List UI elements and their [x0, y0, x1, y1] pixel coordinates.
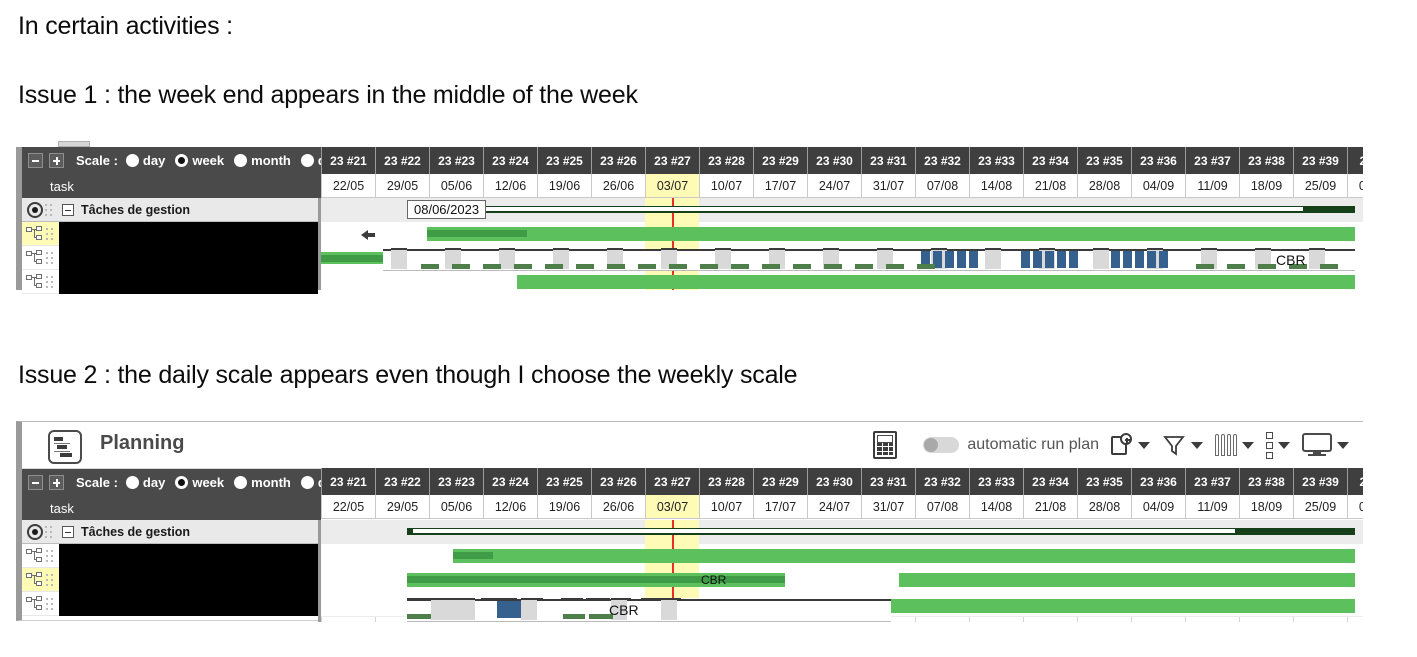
mini-progress-block: [855, 264, 873, 269]
date-header-cell[interactable]: 11/09: [1185, 495, 1239, 519]
date-header-cell[interactable]: 07/08: [915, 174, 969, 198]
expand-all-icon[interactable]: [49, 475, 64, 490]
date-header-cell[interactable]: 26/06: [591, 495, 645, 519]
scale-label: Scale :: [76, 153, 118, 168]
weekend-block: [985, 250, 1001, 269]
columns-button[interactable]: [1209, 422, 1260, 468]
mini-progress-block: [886, 264, 904, 269]
monitor-icon: [1302, 433, 1332, 457]
add-page-button[interactable]: [1105, 422, 1156, 468]
weekend-block-top: [985, 248, 1001, 250]
target-icon: [27, 202, 43, 218]
calculator-icon: [873, 431, 897, 459]
radio-dot-month: [234, 476, 247, 489]
display-button[interactable]: [1296, 422, 1355, 468]
week-header-cell[interactable]: 23 #30: [807, 147, 861, 174]
day-cell-top: [521, 598, 543, 600]
scale-option-month[interactable]: month: [234, 475, 291, 490]
scale-option-week[interactable]: week: [175, 475, 224, 490]
date-header-cell[interactable]: 24/07: [807, 174, 861, 198]
chevron-down-icon[interactable]: [1278, 442, 1290, 449]
radio-dot-quarter: [301, 154, 314, 167]
date-header-cell[interactable]: 29/05: [375, 495, 429, 519]
subtask-tree-icon: [26, 250, 44, 266]
mini-progress-block: [669, 264, 687, 269]
task-bar-progress-2-2: [407, 576, 785, 583]
task-block[interactable]: [945, 251, 954, 268]
task-block[interactable]: [1123, 251, 1132, 268]
automatic-run-plan-label: automatic run plan: [967, 436, 1099, 454]
more-options-button[interactable]: [1260, 422, 1296, 468]
week-header-cell[interactable]: 23 #4: [1347, 468, 1363, 495]
subtask-tree-icon: [26, 596, 44, 612]
timeline-week-header-1: 23 #2123 #2223 #2323 #2423 #2523 #2623 #…: [321, 147, 1363, 174]
week-header-cell[interactable]: 23 #25: [537, 468, 591, 495]
week-header-cell[interactable]: 23 #25: [537, 147, 591, 174]
task-block[interactable]: [1111, 251, 1120, 268]
scale-radio-group-2: day week month qu: [126, 475, 344, 490]
weekend-block-top: [553, 248, 569, 250]
weekend-block-top: [931, 248, 947, 250]
bar-label-cbr-1: CBR: [1276, 252, 1306, 268]
date-header-cell[interactable]: 03/07: [645, 174, 699, 198]
mini-progress-block: [452, 264, 470, 269]
collapse-all-icon[interactable]: [28, 153, 43, 168]
week-header-cell[interactable]: 23 #29: [753, 147, 807, 174]
bar-label-cbr-2b: CBR: [609, 602, 639, 618]
columns-icon: [1215, 434, 1237, 456]
date-header-cell[interactable]: 07/08: [915, 495, 969, 519]
chevron-down-icon[interactable]: [1337, 442, 1349, 449]
week-header-cell[interactable]: 23 #35: [1077, 147, 1131, 174]
week-header-cell[interactable]: 23 #26: [591, 468, 645, 495]
mini-progress-block: [607, 264, 625, 269]
drag-dots-icon: [44, 202, 53, 218]
mini-progress-block: [793, 264, 811, 269]
date-header-cell[interactable]: 22/05: [321, 495, 375, 519]
week-header-cell[interactable]: 23 #34: [1023, 147, 1077, 174]
subtask-tree-icon: [26, 274, 44, 290]
task-list-pane-2: Tâches de gestion: [22, 520, 318, 616]
mini-progress-block: [576, 264, 594, 269]
gantt-body-2: CBR CBR Tâches de gestion: [22, 520, 1363, 622]
radio-dot-quarter: [301, 476, 314, 489]
task-block[interactable]: [1033, 251, 1042, 268]
week-header-cell[interactable]: 23 #32: [915, 147, 969, 174]
week-header-cell[interactable]: 23 #27: [645, 147, 699, 174]
scale-radio-group-1: day week month qu: [126, 153, 344, 168]
week-header-cell[interactable]: 23 #28: [699, 468, 753, 495]
task-block[interactable]: [1021, 251, 1030, 268]
weekend-block-top: [715, 248, 731, 250]
mini-progress-block: [638, 264, 656, 269]
task-block[interactable]: [1135, 251, 1144, 268]
drag-dots-icon: [45, 226, 54, 242]
redacted-task-name: [59, 592, 318, 616]
date-header-cell[interactable]: 29/05: [375, 174, 429, 198]
date-header-cell[interactable]: 28/08: [1077, 174, 1131, 198]
task-row-2-1[interactable]: [22, 544, 318, 568]
drag-dots-icon: [44, 524, 53, 540]
gantt-body-1: 08/06/2023 CBR Tâches de ge: [22, 198, 1363, 290]
mini-progress-block: [1227, 264, 1245, 269]
redacted-task-name: [59, 270, 318, 294]
week-header-cell[interactable]: 23 #37: [1185, 468, 1239, 495]
radio-dot-day: [126, 476, 139, 489]
week-header-cell[interactable]: 23 #37: [1185, 147, 1239, 174]
filter-button[interactable]: [1156, 422, 1209, 468]
task-bar-1-1[interactable]: [427, 227, 1355, 241]
date-header-cell[interactable]: 19/06: [537, 174, 591, 198]
task-bar-progress-2-1: [453, 552, 493, 559]
intro-paragraph: In certain activities :: [18, 12, 233, 41]
week-header-cell[interactable]: 23 #32: [915, 468, 969, 495]
day-cell-top: [586, 598, 610, 600]
week-header-cell[interactable]: 23 #31: [861, 468, 915, 495]
date-header-cell[interactable]: 26/06: [591, 174, 645, 198]
collapse-all-icon[interactable]: [28, 475, 43, 490]
date-header-cell[interactable]: 04/09: [1131, 174, 1185, 198]
weekend-block-top: [1039, 248, 1055, 250]
mini-progress-block: [824, 264, 842, 269]
week-header-cell[interactable]: 23 #28: [699, 147, 753, 174]
gantt-screenshot-2: Planning automatic run plan: [16, 421, 1363, 621]
task-row-2-3[interactable]: [22, 592, 318, 616]
task-bar-1-3[interactable]: [517, 275, 1355, 289]
mini-progress-block: [545, 264, 563, 269]
gantt-screenshot-1: Scale : day week month qu 23 #2123 #2223…: [16, 147, 1363, 290]
chevron-down-icon[interactable]: [1138, 442, 1150, 449]
radio-dot-week: [175, 476, 188, 489]
timeline-date-header-2: 22/0529/0505/0612/0619/0626/0603/0710/07…: [321, 495, 1363, 519]
date-header-cell[interactable]: 03/07: [645, 495, 699, 519]
left-arrow-icon: [361, 229, 375, 241]
redacted-task-name: [59, 544, 318, 568]
date-header-cell[interactable]: 14/08: [969, 495, 1023, 519]
day-cell-top: [561, 598, 583, 600]
mini-progress-block: [514, 264, 532, 269]
task-group-row-2[interactable]: Tâches de gestion: [22, 520, 318, 544]
week-header-cell[interactable]: 23 #22: [375, 147, 429, 174]
task-bar-2-2[interactable]: [407, 573, 785, 587]
date-header-cell[interactable]: 02/10: [1347, 174, 1363, 198]
planning-titlebar: Planning automatic run plan: [22, 422, 1363, 469]
weekend-block-top: [823, 248, 839, 250]
subtask-tree-icon: [26, 548, 44, 564]
subtask-tree-icon: [26, 226, 44, 242]
radio-dot-week: [175, 154, 188, 167]
date-header-cell[interactable]: 24/07: [807, 495, 861, 519]
expand-all-icon[interactable]: [49, 153, 64, 168]
task-bar-2-2b[interactable]: [899, 573, 1355, 587]
mini-progress-block: [1196, 264, 1214, 269]
week-header-cell[interactable]: 23 #22: [375, 468, 429, 495]
week-header-cell[interactable]: 23 #23: [429, 468, 483, 495]
drag-dots-icon: [45, 596, 54, 612]
mini-progress-block: [731, 264, 749, 269]
date-tooltip: 08/06/2023: [407, 200, 486, 219]
timeline-date-header-1: 22/0529/0505/0612/0619/0626/0603/0710/07…: [321, 174, 1363, 198]
week-header-cell[interactable]: 23 #33: [969, 147, 1023, 174]
task-block[interactable]: [497, 601, 521, 618]
redacted-task-name: [59, 246, 318, 270]
week-header-cell[interactable]: 23 #30: [807, 468, 861, 495]
task-group-row-1[interactable]: Tâches de gestion: [22, 198, 318, 222]
summary-bar-inner-1: [415, 207, 1303, 211]
mini-progress-block: [1320, 264, 1338, 269]
target-icon: [27, 524, 43, 540]
week-header-cell[interactable]: 23 #36: [1131, 147, 1185, 174]
date-header-cell[interactable]: 12/06: [483, 174, 537, 198]
mini-progress-block: [1258, 264, 1276, 269]
task-column-title: task: [50, 179, 74, 194]
redacted-task-name: [59, 568, 318, 592]
task-row-2-2[interactable]: [22, 568, 318, 592]
mini-progress-block: [917, 264, 935, 269]
mini-progress-block: [483, 264, 501, 269]
date-header-cell[interactable]: 02/10: [1347, 495, 1363, 519]
task-block[interactable]: [969, 251, 978, 268]
scale-option-week[interactable]: week: [175, 153, 224, 168]
weekend-block: [391, 250, 407, 269]
scale-option-day[interactable]: day: [126, 153, 165, 168]
weekend-block-top: [1093, 248, 1109, 250]
issue-2-heading: Issue 2 : the daily scale appears even t…: [18, 361, 797, 390]
task-bar-progress-1-1: [427, 230, 527, 237]
task-row-1-1[interactable]: [22, 222, 318, 246]
week-header-cell[interactable]: 23 #24: [483, 468, 537, 495]
weekend-block-top: [1309, 248, 1325, 250]
drag-dots-icon: [45, 250, 54, 266]
week-header-cell[interactable]: 23 #26: [591, 147, 645, 174]
weekend-block: [661, 600, 677, 620]
date-header-cell[interactable]: 17/07: [753, 174, 807, 198]
day-cell-top: [481, 598, 517, 600]
collapse-icon[interactable]: [62, 526, 74, 538]
subtask-tree-icon: [26, 572, 44, 588]
week-header-cell[interactable]: 23 #38: [1239, 468, 1293, 495]
toggle-switch[interactable]: [923, 437, 959, 453]
task-bar-2-1[interactable]: [453, 549, 1355, 563]
pane-splitter-2[interactable]: [318, 520, 321, 622]
date-header-cell[interactable]: 10/07: [699, 174, 753, 198]
mini-progress-block: [700, 264, 718, 269]
task-block[interactable]: [1147, 251, 1156, 268]
scale-option-month[interactable]: month: [234, 153, 291, 168]
task-row-1-2[interactable]: [22, 246, 318, 270]
radio-dot-day: [126, 154, 139, 167]
week-header-cell[interactable]: 23 #38: [1239, 147, 1293, 174]
date-header-cell[interactable]: 14/08: [969, 174, 1023, 198]
task-column-header-2: task: [22, 496, 321, 520]
date-header-cell[interactable]: 31/07: [861, 174, 915, 198]
task-column-title: task: [50, 501, 74, 516]
week-header-cell[interactable]: 23 #39: [1293, 468, 1347, 495]
redacted-task-name: [59, 222, 318, 246]
weekend-block-top: [445, 248, 461, 250]
date-header-cell[interactable]: 05/06: [429, 174, 483, 198]
date-header-cell[interactable]: 25/09: [1293, 174, 1347, 198]
collapse-icon[interactable]: [62, 204, 74, 216]
date-header-cell[interactable]: 22/05: [321, 174, 375, 198]
date-header-cell[interactable]: 18/09: [1239, 174, 1293, 198]
date-header-cell[interactable]: 05/06: [429, 495, 483, 519]
day-cell-top: [611, 598, 631, 600]
scale-option-day[interactable]: day: [126, 475, 165, 490]
weekend-block: [431, 600, 475, 620]
task-bar-progress-1-2: [321, 255, 383, 262]
date-header-cell[interactable]: 19/06: [537, 495, 591, 519]
mini-progress-block: [762, 264, 780, 269]
weekend-block-top: [661, 248, 677, 250]
detail-bar-2-3[interactable]: [407, 599, 891, 622]
week-header-cell[interactable]: 23 #34: [1023, 468, 1077, 495]
weekend-block: [521, 600, 537, 620]
task-block[interactable]: [1159, 251, 1168, 268]
task-block[interactable]: [957, 251, 966, 268]
week-header-cell[interactable]: 23 #4: [1347, 147, 1363, 174]
automatic-run-plan-toggle[interactable]: automatic run plan: [903, 422, 1105, 468]
week-header-cell[interactable]: 23 #35: [1077, 468, 1131, 495]
task-bar-2-3b[interactable]: [891, 599, 1355, 613]
date-header-cell[interactable]: 12/06: [483, 495, 537, 519]
task-column-header-1: task: [22, 174, 321, 198]
weekend-block: [499, 250, 515, 269]
week-header-cell[interactable]: 23 #36: [1131, 468, 1185, 495]
chart-pane-1: 08/06/2023 CBR: [321, 198, 1363, 290]
drag-dots-icon: [45, 548, 54, 564]
date-header-cell[interactable]: 04/09: [1131, 495, 1185, 519]
week-header-cell[interactable]: 23 #24: [483, 147, 537, 174]
week-header-cell[interactable]: 23 #27: [645, 468, 699, 495]
summary-bar-inner-2: [413, 529, 1235, 533]
week-header-cell[interactable]: 23 #21: [321, 147, 375, 174]
week-header-cell[interactable]: 23 #21: [321, 468, 375, 495]
more-vertical-icon: [1266, 432, 1273, 459]
task-bar-1-2-left[interactable]: [321, 252, 383, 264]
add-page-icon: [1111, 433, 1133, 457]
day-cell-top: [431, 598, 475, 600]
chevron-down-icon[interactable]: [1242, 442, 1254, 449]
week-header-cell[interactable]: 23 #33: [969, 468, 1023, 495]
issue-1-heading: Issue 1 : the week end appears in the mi…: [18, 81, 638, 110]
date-header-cell[interactable]: 17/07: [753, 495, 807, 519]
weekend-block-top: [607, 248, 623, 250]
weekend-block-top: [1201, 248, 1217, 250]
pane-splitter-1[interactable]: [318, 198, 321, 290]
date-header-cell[interactable]: 21/08: [1023, 174, 1077, 198]
date-header-cell[interactable]: 21/08: [1023, 495, 1077, 519]
bar-label-cbr-2a: CBR: [701, 573, 726, 587]
week-header-cell[interactable]: 23 #23: [429, 147, 483, 174]
date-header-cell[interactable]: 18/09: [1239, 495, 1293, 519]
date-header-cell[interactable]: 25/09: [1293, 495, 1347, 519]
weekend-block: [1093, 250, 1109, 269]
date-header-cell[interactable]: 10/07: [699, 495, 753, 519]
mini-progress-block: [421, 264, 439, 269]
scale-label: Scale :: [76, 475, 118, 490]
date-header-cell[interactable]: 11/09: [1185, 174, 1239, 198]
task-list-pane-1: Tâches de gestion: [22, 198, 318, 294]
date-header-cell[interactable]: 28/08: [1077, 495, 1131, 519]
week-header-cell[interactable]: 23 #29: [753, 468, 807, 495]
drag-dots-icon: [45, 572, 54, 588]
weekend-block-top: [877, 248, 893, 250]
calculator-button[interactable]: [867, 422, 903, 468]
day-cell-top: [661, 598, 681, 600]
weekend-block-top: [391, 248, 407, 250]
filter-icon: [1162, 433, 1186, 457]
task-block[interactable]: [1069, 251, 1078, 268]
weekend-block-top: [1147, 248, 1163, 250]
task-group-label: Tâches de gestion: [81, 525, 190, 539]
mini-progress-block: [407, 614, 431, 619]
mini-progress-block: [563, 614, 585, 619]
weekend-block-top: [499, 248, 515, 250]
task-row-1-3[interactable]: [22, 270, 318, 294]
task-block[interactable]: [1057, 251, 1066, 268]
week-header-cell[interactable]: 23 #39: [1293, 147, 1347, 174]
weekend-block-top: [769, 248, 785, 250]
weekend-block-top: [1255, 248, 1271, 250]
page-title: Planning: [100, 432, 184, 455]
chevron-down-icon[interactable]: [1191, 442, 1203, 449]
gantt-icon: [48, 430, 82, 464]
drag-dots-icon: [45, 274, 54, 290]
date-header-cell[interactable]: 31/07: [861, 495, 915, 519]
timeline-week-header-2: 23 #2123 #2223 #2323 #2423 #2523 #2623 #…: [321, 468, 1363, 495]
chart-pane-2: CBR CBR: [321, 520, 1363, 622]
radio-dot-month: [234, 154, 247, 167]
planning-toolbar: automatic run plan: [867, 422, 1355, 468]
task-group-label: Tâches de gestion: [81, 203, 190, 217]
task-block[interactable]: [1045, 251, 1054, 268]
week-header-cell[interactable]: 23 #31: [861, 147, 915, 174]
